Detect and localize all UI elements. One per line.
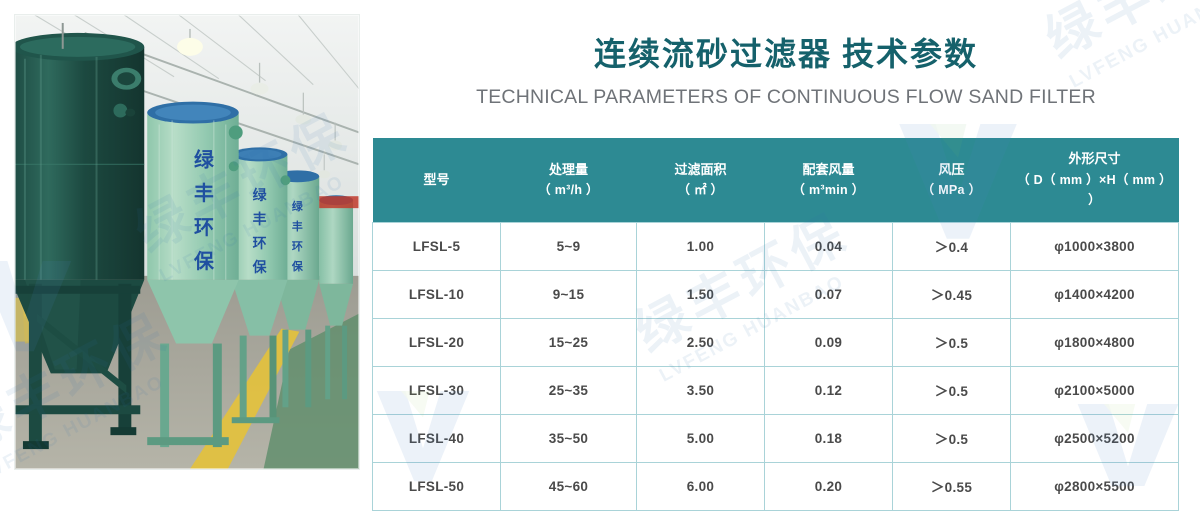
cell-air-volume: 0.12 (765, 366, 893, 414)
product-photo-illustration: 绿 丰 环 保 绿 丰 环 保 (15, 15, 359, 469)
cell-air-pressure: ＞0.55 (893, 462, 1011, 510)
svg-text:环: 环 (194, 217, 214, 239)
spec-table-head: 型号 处理量 （ m³/h ） 过滤面积 （ ㎡ ） 配套风量 （ m³min … (373, 138, 1179, 222)
page-title: 连续流砂过滤器 技术参数 (372, 34, 1200, 74)
col-header-capacity-name: 处理量 (549, 162, 588, 177)
cell-model: LFSL-40 (373, 414, 501, 462)
title-block: 连续流砂过滤器 技术参数 TECHNICAL PARAMETERS OF CON… (372, 0, 1200, 109)
cell-capacity: 9~15 (501, 270, 637, 318)
table-header-row: 型号 处理量 （ m³/h ） 过滤面积 （ ㎡ ） 配套风量 （ m³min … (373, 138, 1179, 222)
col-header-air-volume: 配套风量 （ m³min ） (765, 138, 893, 222)
col-header-filter-area-name: 过滤面积 (674, 162, 726, 177)
cell-air-volume: 0.04 (765, 222, 893, 270)
col-header-dimensions-unit: （ D（ mm ）×H（ mm ） ） (1013, 170, 1177, 211)
table-row: LFSL-30 25~35 3.50 0.12 ＞0.5 φ2100×5000 (373, 366, 1179, 414)
cell-filter-area: 5.00 (637, 414, 765, 462)
col-header-air-volume-unit: （ m³min ） (767, 180, 891, 201)
cell-capacity: 35~50 (501, 414, 637, 462)
cell-air-pressure: ＞0.5 (893, 414, 1011, 462)
spec-table-body: LFSL-5 5~9 1.00 0.04 ＞0.4 φ1000×3800 LFS… (373, 222, 1179, 510)
col-header-filter-area-unit: （ ㎡ ） (639, 180, 763, 201)
cell-capacity: 15~25 (501, 318, 637, 366)
cell-air-volume: 0.07 (765, 270, 893, 318)
cell-filter-area: 6.00 (637, 462, 765, 510)
col-header-dimensions-name: 外形尺寸 (1068, 151, 1120, 166)
svg-text:丰: 丰 (253, 211, 267, 227)
spec-panel: 连续流砂过滤器 技术参数 TECHNICAL PARAMETERS OF CON… (372, 0, 1200, 486)
table-row: LFSL-20 15~25 2.50 0.09 ＞0.5 φ1800×4800 (373, 318, 1179, 366)
svg-text:保: 保 (252, 259, 268, 275)
col-header-dimensions: 外形尺寸 （ D（ mm ）×H（ mm ） ） (1011, 138, 1179, 222)
col-header-model-name: 型号 (423, 172, 449, 187)
col-header-air-pressure-unit: （ MPa ） (895, 180, 1009, 201)
cell-filter-area: 1.50 (637, 270, 765, 318)
cell-model: LFSL-50 (373, 462, 501, 510)
cell-filter-area: 1.00 (637, 222, 765, 270)
table-row: LFSL-10 9~15 1.50 0.07 ＞0.45 φ1400×4200 (373, 270, 1179, 318)
svg-text:保: 保 (291, 259, 304, 273)
svg-text:绿: 绿 (194, 148, 215, 171)
cell-dimensions: φ2100×5000 (1011, 366, 1179, 414)
cell-model: LFSL-20 (373, 318, 501, 366)
cell-air-volume: 0.18 (765, 414, 893, 462)
svg-text:保: 保 (193, 250, 215, 273)
cell-model: LFSL-30 (373, 366, 501, 414)
table-row: LFSL-50 45~60 6.00 0.20 ＞0.55 φ2800×5500 (373, 462, 1179, 510)
table-row: LFSL-40 35~50 5.00 0.18 ＞0.5 φ2500×5200 (373, 414, 1179, 462)
cell-air-pressure: ＞0.45 (893, 270, 1011, 318)
svg-text:绿: 绿 (253, 187, 268, 203)
col-header-air-volume-name: 配套风量 (802, 162, 854, 177)
cell-dimensions: φ2800×5500 (1011, 462, 1179, 510)
svg-text:环: 环 (292, 240, 303, 253)
cell-air-pressure: ＞0.4 (893, 222, 1011, 270)
cell-model: LFSL-10 (373, 270, 501, 318)
svg-text:丰: 丰 (292, 219, 303, 233)
cell-capacity: 45~60 (501, 462, 637, 510)
table-row: LFSL-5 5~9 1.00 0.04 ＞0.4 φ1000×3800 (373, 222, 1179, 270)
cell-filter-area: 3.50 (637, 366, 765, 414)
cell-air-pressure: ＞0.5 (893, 318, 1011, 366)
product-photo: 绿 丰 环 保 绿 丰 环 保 (14, 14, 360, 470)
col-header-air-pressure: 风压 （ MPa ） (893, 138, 1011, 222)
cell-air-volume: 0.09 (765, 318, 893, 366)
svg-text:丰: 丰 (194, 182, 214, 205)
cell-capacity: 5~9 (501, 222, 637, 270)
cell-dimensions: φ1400×4200 (1011, 270, 1179, 318)
cell-model: LFSL-5 (373, 222, 501, 270)
cell-dimensions: φ2500×5200 (1011, 414, 1179, 462)
spec-table-container: 型号 处理量 （ m³/h ） 过滤面积 （ ㎡ ） 配套风量 （ m³min … (372, 138, 1178, 511)
svg-text:绿: 绿 (292, 199, 304, 213)
cell-air-volume: 0.20 (765, 462, 893, 510)
page-subtitle: TECHNICAL PARAMETERS OF CONTINUOUS FLOW … (372, 86, 1200, 109)
col-header-model: 型号 (373, 138, 501, 222)
spec-table: 型号 处理量 （ m³/h ） 过滤面积 （ ㎡ ） 配套风量 （ m³min … (372, 138, 1179, 511)
cell-filter-area: 2.50 (637, 318, 765, 366)
cell-capacity: 25~35 (501, 366, 637, 414)
col-header-filter-area: 过滤面积 （ ㎡ ） (637, 138, 765, 222)
col-header-capacity: 处理量 （ m³/h ） (501, 138, 637, 222)
cell-air-pressure: ＞0.5 (893, 366, 1011, 414)
col-header-air-pressure-name: 风压 (938, 162, 964, 177)
cell-dimensions: φ1000×3800 (1011, 222, 1179, 270)
col-header-capacity-unit: （ m³/h ） (503, 180, 635, 201)
svg-text:环: 环 (253, 235, 267, 251)
cell-dimensions: φ1800×4800 (1011, 318, 1179, 366)
